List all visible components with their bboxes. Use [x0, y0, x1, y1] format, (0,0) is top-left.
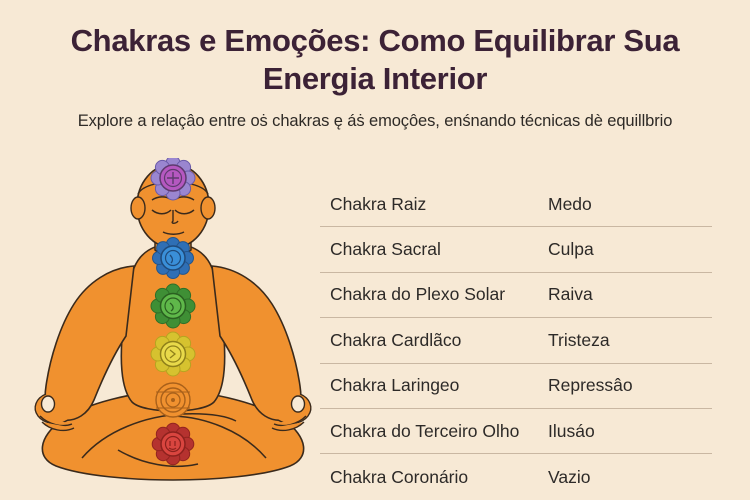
chakra-name: Chakra Cardlãco: [320, 330, 548, 351]
page-subtitle: Explore a relaçâo entre oṡ chakras ę áṡ …: [0, 111, 750, 133]
table-row: Chakra Sacral Culpa: [320, 227, 712, 272]
chakra-emotion: Repressâo: [548, 375, 712, 396]
chakra-name: Chakra Laringeo: [320, 375, 548, 396]
throat-chakra-icon: [153, 238, 194, 279]
chakra-name: Chakra Coronário: [320, 467, 548, 488]
chakra-emotion: Vazio: [548, 467, 712, 488]
table-row: Chakra Cardlãco Tristeza: [320, 318, 712, 363]
chakra-emotion-table: Chakra Raiz Medo Chakra Sacral Culpa Cha…: [320, 182, 712, 500]
chakra-emotion: Raiva: [548, 284, 712, 305]
infographic-canvas: Chakras e Emoções: Como Equilibrar Sua E…: [0, 0, 750, 500]
sacral-chakra-icon: [156, 383, 190, 417]
table-row: Chakra do Plexo Solar Raiva: [320, 273, 712, 318]
table-row: Chakra Coronário Vazio: [320, 454, 712, 499]
solar-plexus-chakra-icon: [151, 332, 195, 376]
chakra-name: Chakra do Terceiro Olho: [320, 421, 548, 442]
crown-chakra-icon: [151, 158, 195, 200]
table-row: Chakra Laringeo Repressâo: [320, 364, 712, 409]
chakra-emotion: Tristeza: [548, 330, 712, 351]
chakra-emotion: Ilusáo: [548, 421, 712, 442]
page-title: Chakras e Emoções: Como Equilibrar Sua E…: [0, 22, 750, 98]
root-chakra-icon: [152, 423, 194, 465]
table-row: Chakra do Terceiro Olho Ilusáo: [320, 409, 712, 454]
meditating-figure-illustration: [22, 158, 324, 500]
table-row: Chakra Raiz Medo: [320, 182, 712, 227]
chakra-name: Chakra do Plexo Solar: [320, 284, 548, 305]
heart-chakra-icon: [151, 284, 195, 328]
chakra-emotion: Culpa: [548, 239, 712, 260]
chakra-emotion: Medo: [548, 194, 712, 215]
chakra-name: Chakra Raiz: [320, 194, 548, 215]
header: Chakras e Emoções: Como Equilibrar Sua E…: [0, 22, 750, 133]
chakra-name: Chakra Sacral: [320, 239, 548, 260]
